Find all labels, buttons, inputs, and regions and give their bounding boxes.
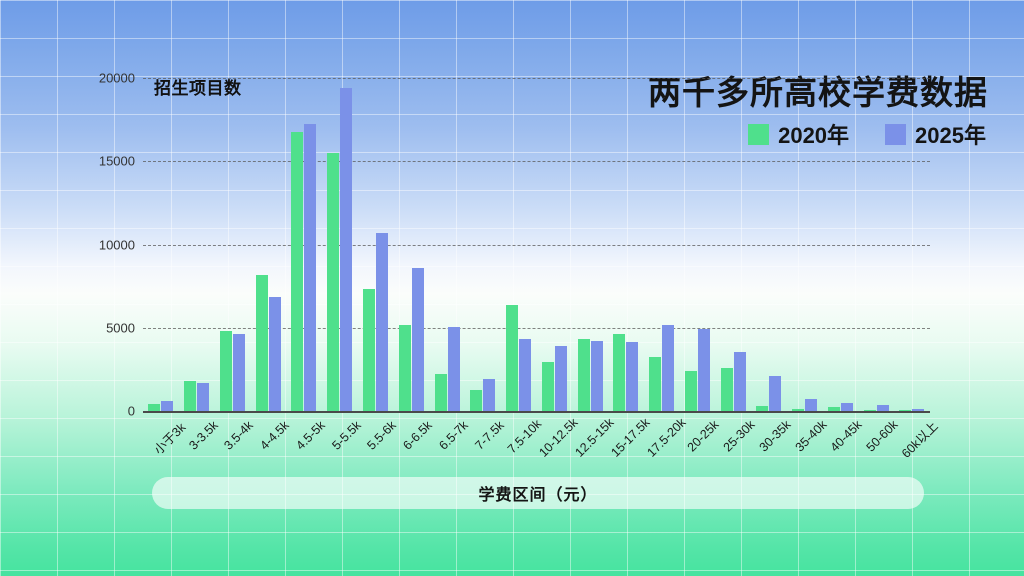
bar-2025[interactable] (304, 124, 316, 411)
x-axis-tick-labels: 小于3k3-3.5k3.5-4k4-4.5k4.5-5k5-5.5k5.5-6k… (143, 414, 930, 484)
bar-group (894, 78, 930, 411)
x-tick-wrap: 4-4.5k (250, 414, 286, 484)
x-tick-wrap: 50-60k (858, 414, 894, 484)
bar-group (465, 78, 501, 411)
bar-2025[interactable] (448, 327, 460, 411)
x-tick-wrap: 7.5-10k (501, 414, 537, 484)
bar-group (679, 78, 715, 411)
bar-2025[interactable] (626, 342, 638, 411)
bar-2020[interactable] (399, 325, 411, 411)
bar-2025[interactable] (591, 341, 603, 411)
bar-group (358, 78, 394, 411)
x-tick-wrap: 6-6.5k (393, 414, 429, 484)
bar-2020[interactable] (685, 371, 697, 411)
bar-group (215, 78, 251, 411)
bar-2020[interactable] (470, 390, 482, 411)
bar-group (322, 78, 358, 411)
y-tick-label-5000: 5000 (106, 320, 135, 335)
bar-group (787, 78, 823, 411)
bar-2025[interactable] (841, 403, 853, 411)
y-tick-label-0: 0 (128, 404, 135, 419)
x-tick-wrap: 35-40k (787, 414, 823, 484)
bar-2020[interactable] (363, 289, 375, 411)
bar-2025[interactable] (340, 88, 352, 411)
bar-2020[interactable] (899, 410, 911, 411)
y-axis-tick-labels: 05000100001500020000 (0, 0, 143, 576)
bar-2020[interactable] (649, 357, 661, 411)
x-tick-wrap: 4.5-5k (286, 414, 322, 484)
bar-2025[interactable] (233, 334, 245, 411)
bar-group (393, 78, 429, 411)
bar-2020[interactable] (256, 275, 268, 411)
bar-group (143, 78, 179, 411)
bar-group (501, 78, 537, 411)
bar-2020[interactable] (578, 339, 590, 411)
x-tick-wrap: 17.5-20k (644, 414, 680, 484)
bar-2020[interactable] (542, 362, 554, 411)
bar-group (751, 78, 787, 411)
bar-2020[interactable] (184, 381, 196, 411)
bar-group (250, 78, 286, 411)
bar-2020[interactable] (756, 406, 768, 411)
bar-2025[interactable] (877, 405, 889, 411)
bar-group (823, 78, 859, 411)
x-tick-wrap: 6.5-7k (429, 414, 465, 484)
x-tick-wrap: 30-35k (751, 414, 787, 484)
chart-container: 招生项目数 两千多所高校学费数据 2020年 2025年 05000100001… (0, 0, 1024, 576)
x-axis-title-banner: 学费区间（元） (152, 477, 924, 509)
x-axis-line (143, 411, 930, 413)
bar-group (179, 78, 215, 411)
bar-2025[interactable] (555, 346, 567, 411)
bar-2020[interactable] (148, 404, 160, 411)
x-tick-label: 60k以上 (896, 416, 941, 461)
x-tick-wrap: 5.5-6k (358, 414, 394, 484)
bar-group (715, 78, 751, 411)
bar-2025[interactable] (483, 379, 495, 411)
bar-2020[interactable] (828, 407, 840, 411)
bar-2025[interactable] (698, 329, 710, 411)
bar-group (644, 78, 680, 411)
bar-group (536, 78, 572, 411)
x-tick-wrap: 25-30k (715, 414, 751, 484)
bar-2020[interactable] (220, 331, 232, 411)
x-tick-wrap: 小于3k (143, 414, 179, 484)
x-tick-wrap: 3.5-4k (215, 414, 251, 484)
bar-2025[interactable] (161, 401, 173, 411)
bar-group (429, 78, 465, 411)
x-tick-wrap: 40-45k (823, 414, 859, 484)
bar-group (572, 78, 608, 411)
x-tick-wrap: 5-5.5k (322, 414, 358, 484)
bar-2020[interactable] (506, 305, 518, 411)
bar-2025[interactable] (734, 352, 746, 411)
bar-2025[interactable] (269, 297, 281, 411)
y-tick-label-10000: 10000 (99, 237, 135, 252)
bar-2020[interactable] (864, 410, 876, 411)
bar-2025[interactable] (662, 325, 674, 411)
bar-2020[interactable] (792, 409, 804, 411)
bar-2025[interactable] (412, 268, 424, 411)
bar-2020[interactable] (435, 374, 447, 411)
x-tick-wrap: 12.5-15k (572, 414, 608, 484)
y-tick-label-20000: 20000 (99, 71, 135, 86)
bar-2020[interactable] (291, 132, 303, 411)
bar-group (286, 78, 322, 411)
bar-2025[interactable] (912, 409, 924, 411)
bar-2020[interactable] (721, 368, 733, 411)
x-tick-wrap: 60k以上 (894, 414, 930, 484)
bar-2020[interactable] (613, 334, 625, 411)
x-tick-wrap: 15-17.5k (608, 414, 644, 484)
bar-2025[interactable] (519, 339, 531, 411)
bar-2025[interactable] (805, 399, 817, 411)
bar-2020[interactable] (327, 153, 339, 411)
x-tick-wrap: 10-12.5k (536, 414, 572, 484)
x-axis-title: 学费区间（元） (478, 481, 597, 505)
bar-2025[interactable] (197, 383, 209, 411)
bars-layer (143, 78, 930, 411)
y-tick-label-15000: 15000 (99, 154, 135, 169)
bar-group (608, 78, 644, 411)
bar-2025[interactable] (769, 376, 781, 411)
x-tick-wrap: 20-25k (679, 414, 715, 484)
x-tick-wrap: 7-7.5k (465, 414, 501, 484)
bar-2025[interactable] (376, 233, 388, 411)
bar-group (858, 78, 894, 411)
x-tick-wrap: 3-3.5k (179, 414, 215, 484)
